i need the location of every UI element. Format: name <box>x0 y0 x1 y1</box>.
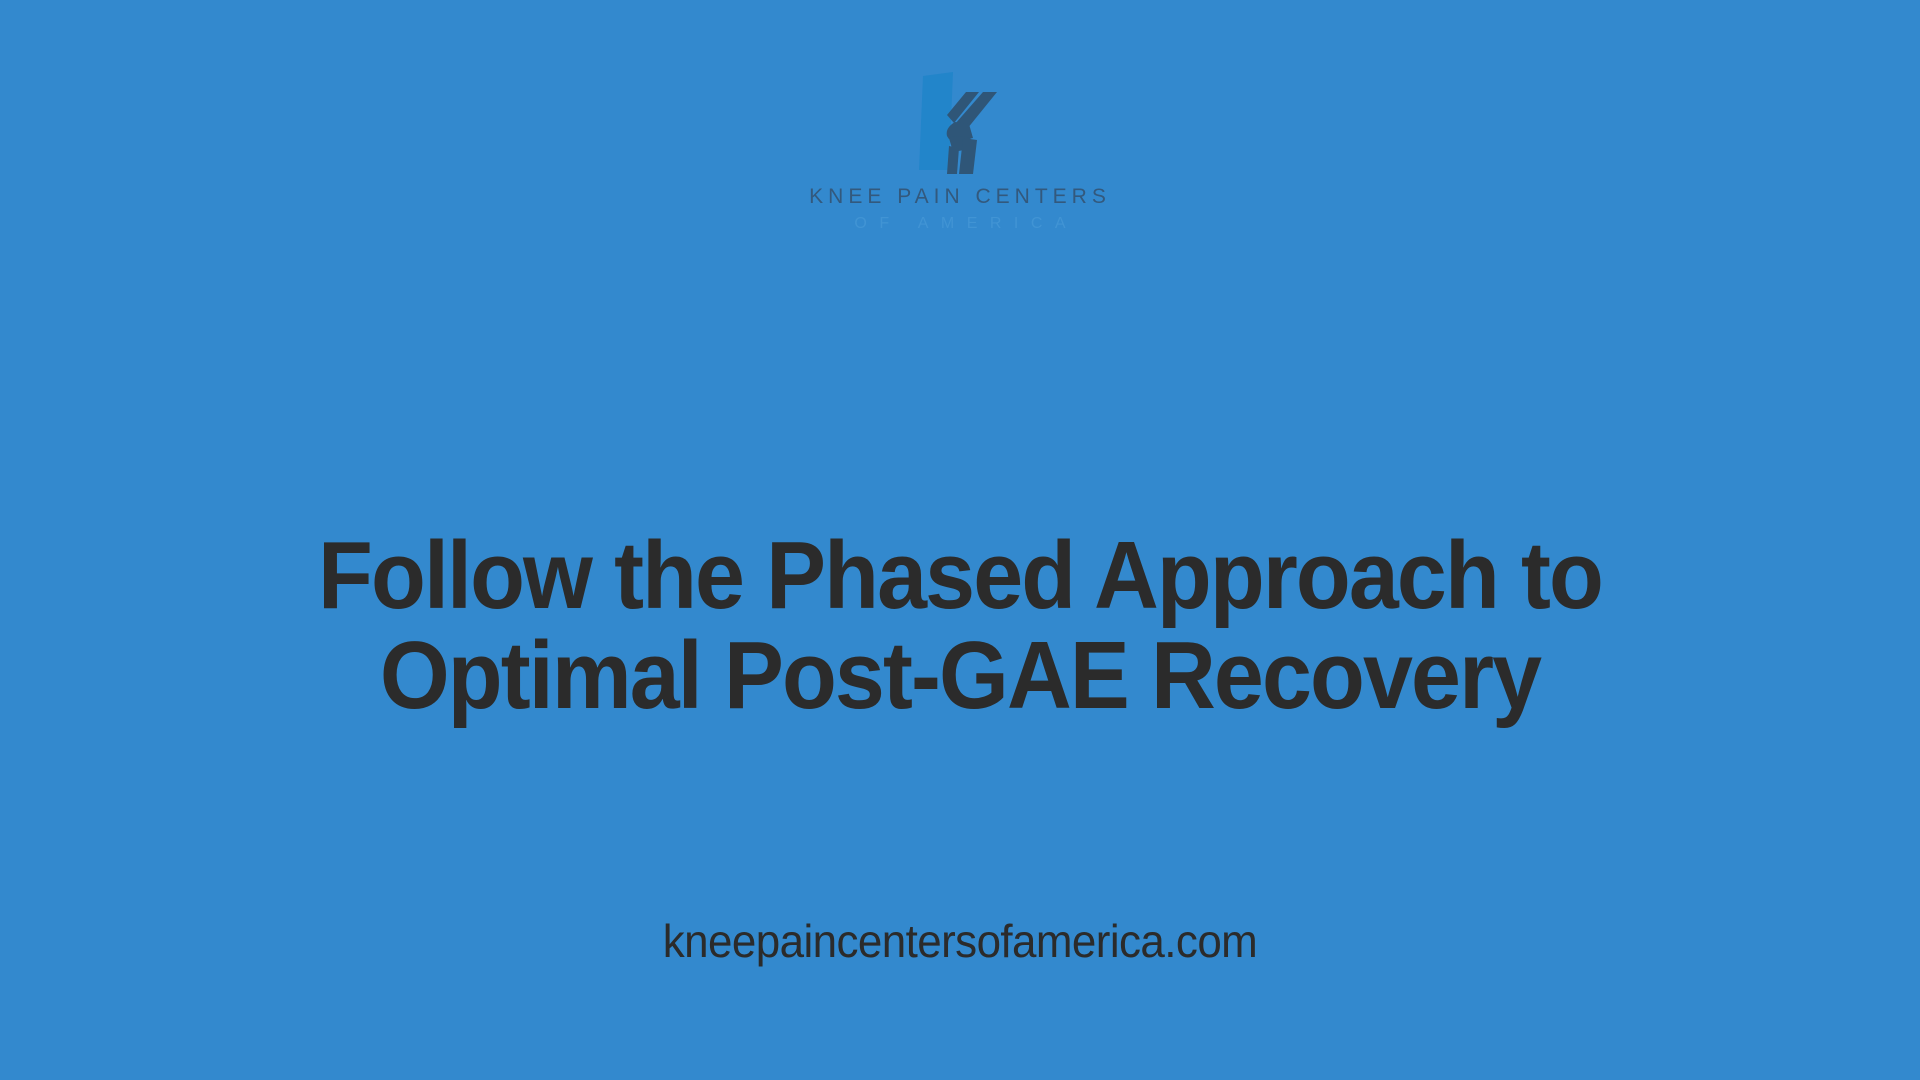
brand-logo: KNEE PAIN CENTERS OF AMERICA <box>0 62 1920 232</box>
logo-wordmark: KNEE PAIN CENTERS <box>809 186 1111 207</box>
logo-sub-wordmark: OF AMERICA <box>842 216 1078 232</box>
page-title: Follow the Phased Approach to Optimal Po… <box>62 526 1857 726</box>
knee-pain-centers-k-logo-icon <box>897 62 1023 180</box>
page-title-line-2: Optimal Post-GAE Recovery <box>193 626 1726 726</box>
website-url[interactable]: kneepaincentersofamerica.com <box>43 918 1877 964</box>
presentation-slide: KNEE PAIN CENTERS OF AMERICA Follow the … <box>0 0 1920 1080</box>
page-title-line-1: Follow the Phased Approach to <box>193 526 1726 626</box>
